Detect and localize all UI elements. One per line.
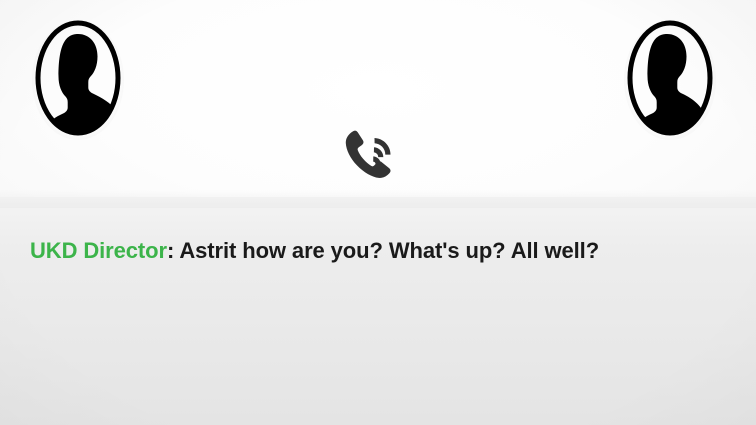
avatar-right-caller <box>620 14 720 142</box>
background-bottom-band <box>0 197 756 425</box>
background-seam <box>0 190 756 208</box>
phone-ringing-icon <box>337 126 403 188</box>
caption-speaker-label: UKD Director <box>30 238 167 263</box>
caption-utterance: Astrit how are you? What's up? All well? <box>174 238 599 263</box>
avatar-left-caller <box>28 14 128 142</box>
caption-line: UKD Director: Astrit how are you? What's… <box>30 238 730 264</box>
call-transcript-frame: UKD Director: Astrit how are you? What's… <box>0 0 756 425</box>
